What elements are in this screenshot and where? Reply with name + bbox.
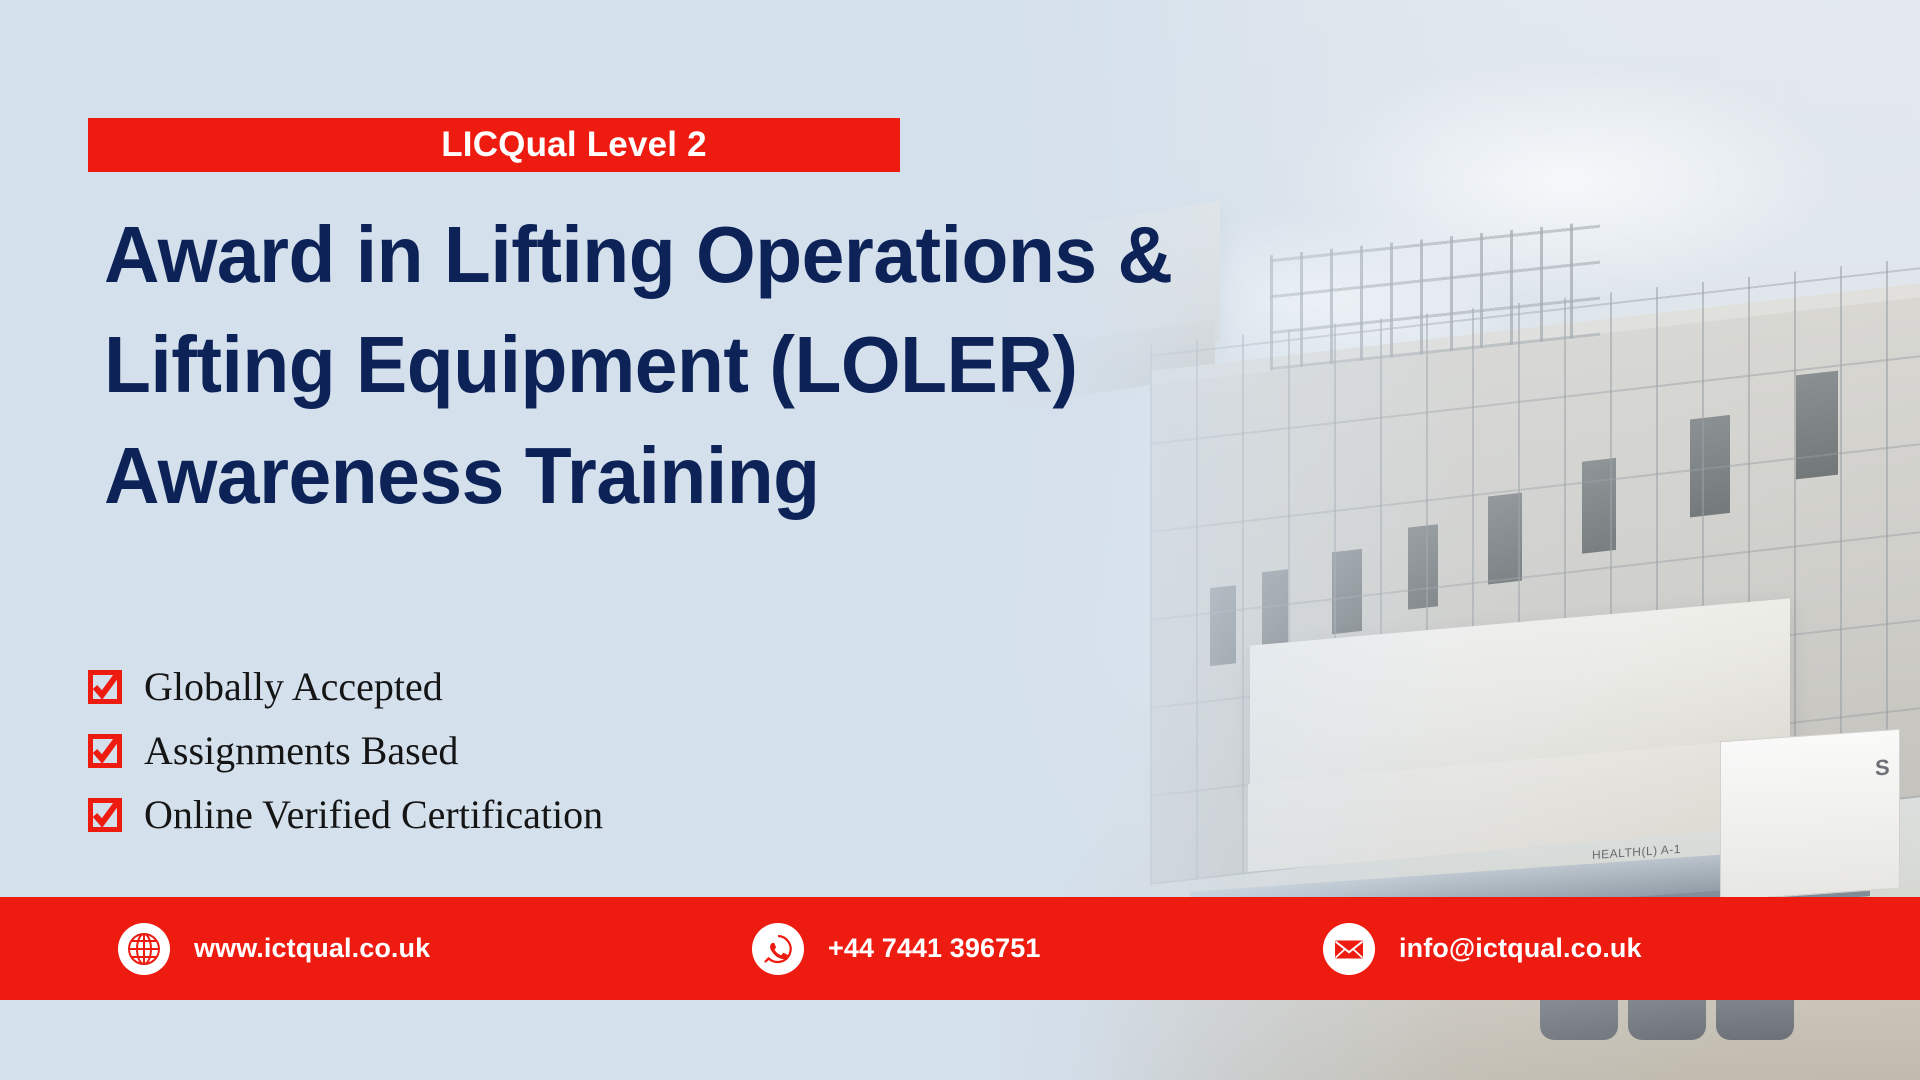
list-item-label: Assignments Based [144, 731, 458, 771]
headline-line-3: Awareness Training [104, 421, 1237, 531]
checkbox-checked-icon [88, 798, 122, 832]
level-badge: LICQual Level 2 [88, 118, 900, 172]
globe-icon [118, 923, 170, 975]
feature-list: Globally Accepted Assignments Based [88, 655, 808, 847]
course-banner: HEALTH(L) A-1 S LICQual Level 2 Award in… [0, 0, 1920, 1080]
contact-email-label: info@ictqual.co.uk [1399, 933, 1642, 964]
list-item-label: Globally Accepted [144, 667, 443, 707]
whatsapp-icon [752, 923, 804, 975]
checkbox-checked-icon [88, 734, 122, 768]
level-badge-label: LICQual Level 2 [281, 125, 707, 165]
list-item: Online Verified Certification [88, 783, 808, 847]
contact-website-label: www.ictqual.co.uk [194, 933, 430, 964]
contact-phone[interactable]: +44 7441 396751 [752, 923, 1040, 975]
banner-content: LICQual Level 2 Award in Lifting Operati… [0, 0, 1920, 1080]
contact-phone-label: +44 7441 396751 [828, 933, 1040, 964]
headline-line-2: Lifting Equipment (LOLER) [104, 310, 1237, 420]
contact-website[interactable]: www.ictqual.co.uk [118, 923, 430, 975]
contact-footer: www.ictqual.co.uk +44 7441 396751 [0, 897, 1920, 1000]
contact-email[interactable]: info@ictqual.co.uk [1323, 923, 1642, 975]
envelope-icon [1323, 923, 1375, 975]
list-item: Assignments Based [88, 719, 808, 783]
page-title: Award in Lifting Operations & Lifting Eq… [104, 200, 1237, 531]
headline-line-1: Award in Lifting Operations & [104, 200, 1237, 310]
list-item: Globally Accepted [88, 655, 808, 719]
checkbox-checked-icon [88, 670, 122, 704]
list-item-label: Online Verified Certification [144, 795, 603, 835]
